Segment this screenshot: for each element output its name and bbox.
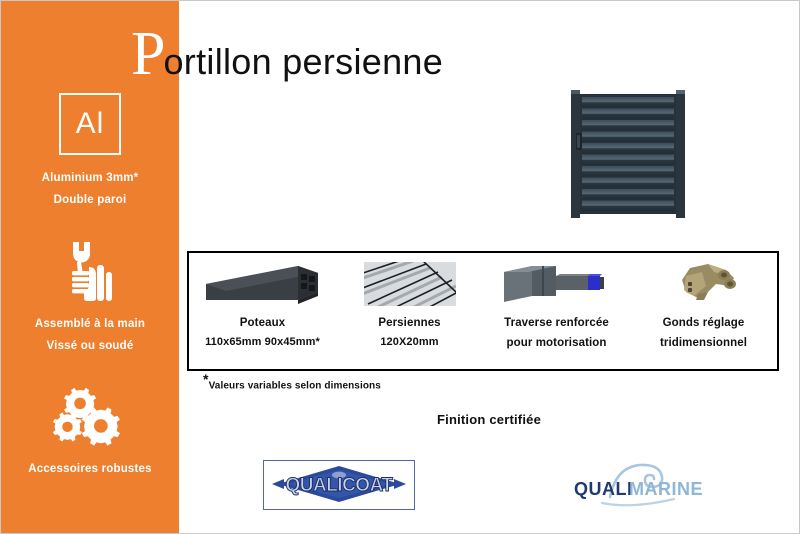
- qualicoat-logo-text: QUALICOAT: [285, 475, 393, 496]
- qualimarine-logo-text-primary: QUALI: [574, 479, 633, 499]
- hand-wrench-icon: [53, 238, 127, 304]
- qualicoat-logo: QUALICOAT: [263, 460, 415, 510]
- page-title-text: ortillon persienne: [163, 44, 443, 80]
- feature-aluminium-line-1: Aluminium 3mm*: [42, 168, 139, 190]
- feature-aluminium-line-2: Double paroi: [54, 190, 127, 212]
- feature-assembly-line-1: Assemblé à la main: [35, 314, 145, 336]
- qualimarine-logo-text-secondary: MARINE: [629, 479, 703, 499]
- feature-aluminium: Al Aluminium 3mm* Double paroi: [1, 93, 179, 212]
- aluminium-al-icon: Al: [59, 93, 121, 155]
- component-gonds-label: Gonds réglage: [663, 313, 745, 333]
- reinforced-crossbar-icon: [498, 261, 616, 307]
- component-traverse: Traverse renforcée pour motorisation: [483, 253, 630, 369]
- component-gonds: Gonds réglage tridimensionnel: [630, 253, 777, 369]
- feature-assembly-line-2: Vissé ou soudé: [47, 336, 134, 358]
- component-persiennes: Persiennes 120X20mm: [336, 253, 483, 369]
- hinge-icon: [668, 261, 740, 307]
- footnote-text: Valeurs variables selon dimensions: [209, 380, 381, 391]
- feature-accessories: Accessoires robustes: [1, 383, 179, 481]
- aluminium-symbol-label: Al: [76, 109, 105, 139]
- component-gonds-spec: tridimensionnel: [660, 333, 747, 353]
- component-traverse-label: Traverse renforcée: [504, 313, 609, 333]
- component-persiennes-spec: 120X20mm: [380, 333, 438, 352]
- components-box: Poteaux 110x65mm 90x45mm*: [187, 251, 779, 371]
- product-datasheet-page: Al Aluminium 3mm* Double paroi: [0, 0, 800, 534]
- component-persiennes-label: Persiennes: [378, 313, 440, 333]
- component-poteaux: Poteaux 110x65mm 90x45mm*: [189, 253, 336, 369]
- footnote: *Valeurs variables selon dimensions: [203, 379, 381, 391]
- qualimarine-logo: QUALI MARINE: [557, 459, 709, 511]
- certification-heading: Finition certifiée: [437, 412, 541, 427]
- louvered-gate-icon: [569, 86, 689, 219]
- component-poteaux-spec: 110x65mm 90x45mm*: [205, 333, 320, 352]
- louver-blades-icon: [364, 261, 456, 307]
- component-traverse-spec: pour motorisation: [506, 333, 606, 353]
- feature-assembly: Assemblé à la main Vissé ou soudé: [1, 238, 179, 358]
- page-title: P ortillon persienne: [131, 23, 443, 85]
- page-title-capital: P: [131, 23, 165, 85]
- gears-icon: [53, 383, 127, 449]
- feature-accessories-line-1: Accessoires robustes: [28, 459, 152, 481]
- component-poteaux-label: Poteaux: [240, 313, 285, 333]
- post-profile-icon: [202, 261, 324, 307]
